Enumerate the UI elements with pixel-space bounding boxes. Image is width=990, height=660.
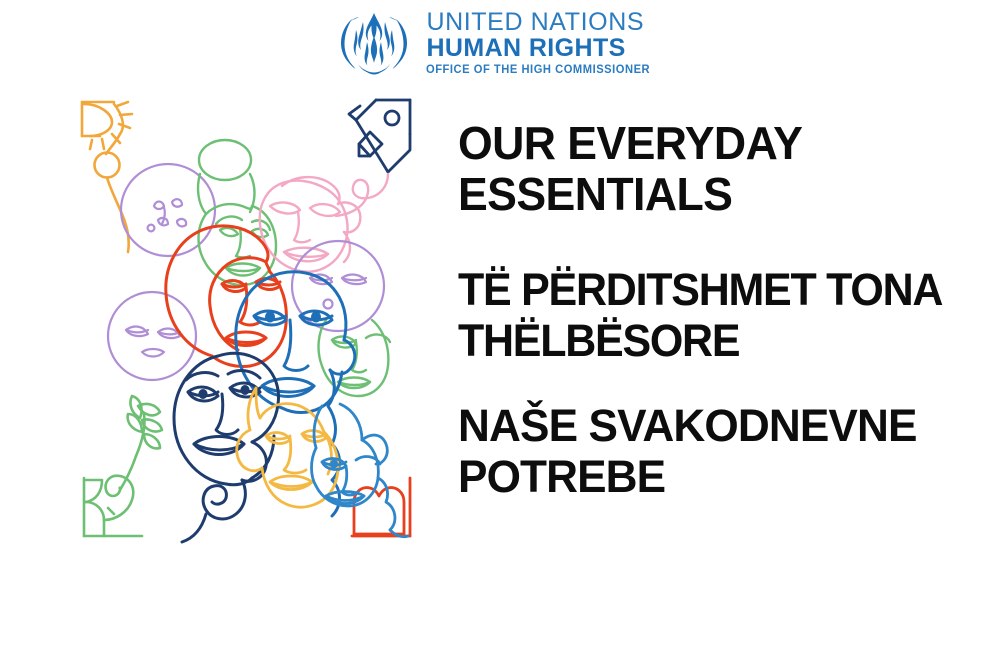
logo-wordmark: UNITED NATIONS HUMAN RIGHTS OFFICE OF TH… xyxy=(426,6,657,77)
un-human-rights-emblem xyxy=(332,6,416,80)
logo-line-human-rights: HUMAN RIGHTS xyxy=(426,35,657,62)
headline-albanian: TË PËRDITSHMET TONA THËLBËSORE xyxy=(458,264,990,366)
logo-line-office-high-commissioner: OFFICE OF THE HIGH COMMISSIONER xyxy=(426,63,650,77)
headline-english-line-2: ESSENTIALS xyxy=(458,169,982,220)
heart-corner-icon xyxy=(352,478,410,536)
headline-albanian-line-1: TË PËRDITSHMET TONA xyxy=(458,264,974,315)
un-human-rights-logo: UNITED NATIONS HUMAN RIGHTS OFFICE OF TH… xyxy=(0,6,990,80)
headline-bosnian-line-2: POTREBE xyxy=(458,451,982,502)
headline-albanian-line-2: THËLBËSORE xyxy=(458,315,974,366)
face-light-blue xyxy=(312,404,409,537)
face-purple-top xyxy=(121,164,215,256)
face-green-top xyxy=(198,140,276,285)
dove-olive-branch-corner-icon xyxy=(84,396,162,536)
face-pink-top xyxy=(260,177,361,272)
headline-english-line-1: OUR EVERYDAY xyxy=(458,118,982,169)
headline-bosnian-line-1: NAŠE SVAKODNEVNE xyxy=(458,400,982,451)
face-navy-headscarf xyxy=(174,353,279,542)
price-tag-corner-icon xyxy=(349,100,410,172)
poster-canvas: UNITED NATIONS HUMAN RIGHTS OFFICE OF TH… xyxy=(0,0,990,660)
logo-line-united-nations: UNITED NATIONS xyxy=(426,10,657,35)
headline-stack: OUR EVERYDAY ESSENTIALS TË PËRDITSHMET T… xyxy=(458,118,990,502)
headline-english: OUR EVERYDAY ESSENTIALS xyxy=(458,118,990,220)
diverse-faces-line-art-illustration xyxy=(70,88,422,548)
headline-bosnian: NAŠE SVAKODNEVNE POTREBE xyxy=(458,400,990,502)
